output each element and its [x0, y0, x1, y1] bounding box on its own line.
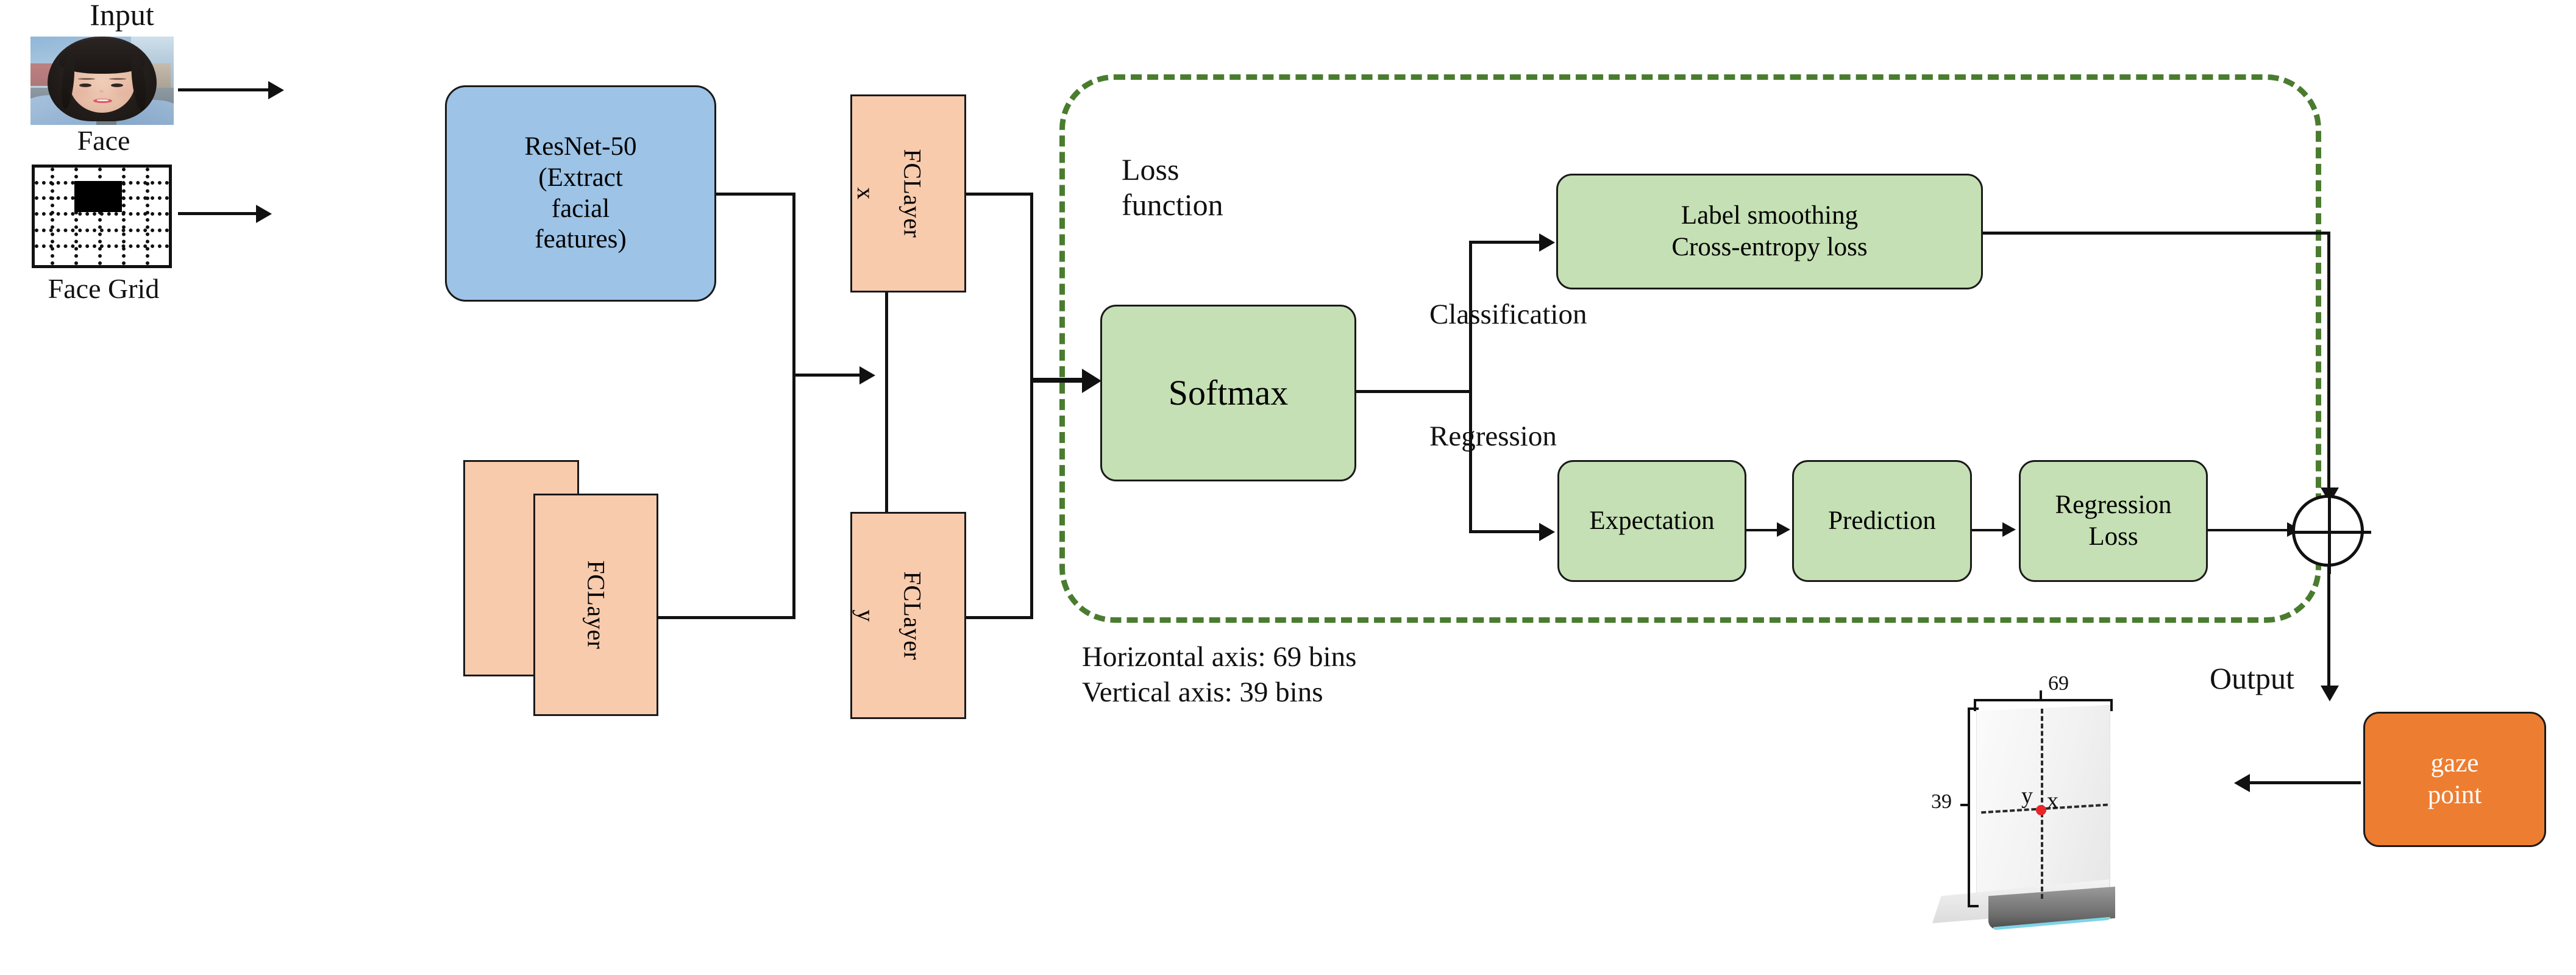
- prediction-label: Prediction: [1828, 505, 1936, 537]
- merge-bus-vertical: [792, 193, 795, 619]
- caption-face: Face: [24, 125, 183, 157]
- fc-layer-y-axis-label: y: [852, 609, 880, 622]
- face-grid: [32, 165, 172, 268]
- screen-width-value: 69: [2048, 672, 2069, 695]
- resnet50-block[interactable]: ResNet-50 (Extract facial features): [445, 85, 716, 302]
- bins-vertical-label: Vertical axis: 39 bins: [1082, 675, 1323, 709]
- screen-axis-y-line: [2041, 709, 2043, 899]
- fc-layer-grid-front[interactable]: FCLayer: [533, 494, 658, 716]
- sum-to-gaze-head: [2321, 686, 2339, 701]
- screen-axis-x-label: x: [2047, 788, 2058, 814]
- expectation-to-prediction-head: [1777, 522, 1790, 537]
- classloss-down-line: [2327, 232, 2330, 494]
- sum-to-gaze-line: [2327, 567, 2330, 692]
- expectation-to-prediction-line: [1746, 529, 1780, 531]
- fc-layer-y-label: FCLayer: [898, 571, 927, 660]
- regression-loss-block[interactable]: Regression Loss: [2019, 460, 2208, 582]
- fcy-out-line: [966, 616, 1033, 619]
- expectation-label: Expectation: [1589, 505, 1714, 537]
- post-fc-bus-vertical: [1030, 193, 1033, 619]
- arrow-face-to-resnet-head: [268, 81, 284, 99]
- gaze-point-dot: [2036, 805, 2046, 815]
- face-grid-face-block: [74, 181, 122, 212]
- arrow-face-to-resnet-line: [178, 88, 269, 91]
- screen-axis-y-label: y: [2021, 783, 2033, 809]
- regression-loss-label: Regression Loss: [2055, 489, 2171, 552]
- screen-height-value: 39: [1931, 790, 1952, 814]
- fc-grid-out-line: [657, 616, 795, 619]
- softmax-split-vertical: [1469, 241, 1472, 533]
- merge-to-split-head: [859, 366, 875, 385]
- fc-layer-x-axis-label: x: [852, 187, 880, 200]
- expectation-block[interactable]: Expectation: [1557, 460, 1746, 582]
- gaze-point-block[interactable]: gaze point: [2363, 712, 2546, 847]
- prediction-block[interactable]: Prediction: [1792, 460, 1972, 582]
- regression-branch-head: [1539, 523, 1555, 541]
- prediction-to-regloss-head: [2002, 522, 2016, 537]
- fc-layer-x-label: FCLayer: [898, 149, 927, 238]
- sum-operator-node: [2292, 495, 2364, 567]
- caption-output: Output: [2210, 661, 2294, 695]
- bins-horizontal-label: Horizontal axis: 69 bins: [1082, 640, 1356, 674]
- classification-label: Classification: [1429, 299, 1587, 331]
- input-face-photo: [30, 37, 174, 125]
- fc-layer-y[interactable]: y FCLayer: [850, 512, 966, 719]
- resnet50-label: ResNet-50 (Extract facial features): [525, 132, 637, 255]
- loss-function-label: Loss function: [1122, 152, 1223, 222]
- fcx-out-line: [966, 193, 1033, 196]
- classloss-out-line: [1983, 232, 2330, 235]
- label-smoothing-label: Label smoothing Cross-entropy loss: [1671, 200, 1867, 263]
- screen-width-brace: [1974, 699, 2113, 711]
- gaze-point-label: gaze point: [2428, 748, 2482, 810]
- softmax-out-line: [1356, 390, 1472, 393]
- softmax-label: Softmax: [1169, 372, 1289, 414]
- regression-label: Regression: [1429, 420, 1557, 453]
- gaze-to-screen-head: [2234, 774, 2250, 792]
- softmax-block[interactable]: Softmax: [1100, 305, 1356, 481]
- prediction-to-regloss-line: [1972, 529, 2005, 531]
- classification-branch-head: [1539, 233, 1555, 252]
- arrow-grid-to-fc-line: [178, 212, 257, 215]
- regloss-out-line: [2208, 529, 2290, 531]
- output-screen-illustration: y x 69 39: [1932, 686, 2188, 966]
- screen-height-brace: [1968, 707, 1979, 907]
- page-title-input: Input: [24, 0, 219, 32]
- fc-layer-x[interactable]: x FCLayer: [850, 94, 966, 292]
- arrow-grid-to-fc-head: [256, 205, 272, 223]
- regression-branch-line: [1469, 530, 1542, 533]
- classification-branch-line: [1469, 241, 1542, 244]
- gaze-to-screen-line: [2248, 781, 2361, 784]
- merge-to-split-line: [795, 374, 863, 377]
- fc-layer-grid-label: FCLayer: [582, 561, 610, 650]
- label-smoothing-block[interactable]: Label smoothing Cross-entropy loss: [1556, 174, 1983, 289]
- resnet-out-line: [716, 193, 795, 196]
- caption-face-grid: Face Grid: [12, 273, 195, 305]
